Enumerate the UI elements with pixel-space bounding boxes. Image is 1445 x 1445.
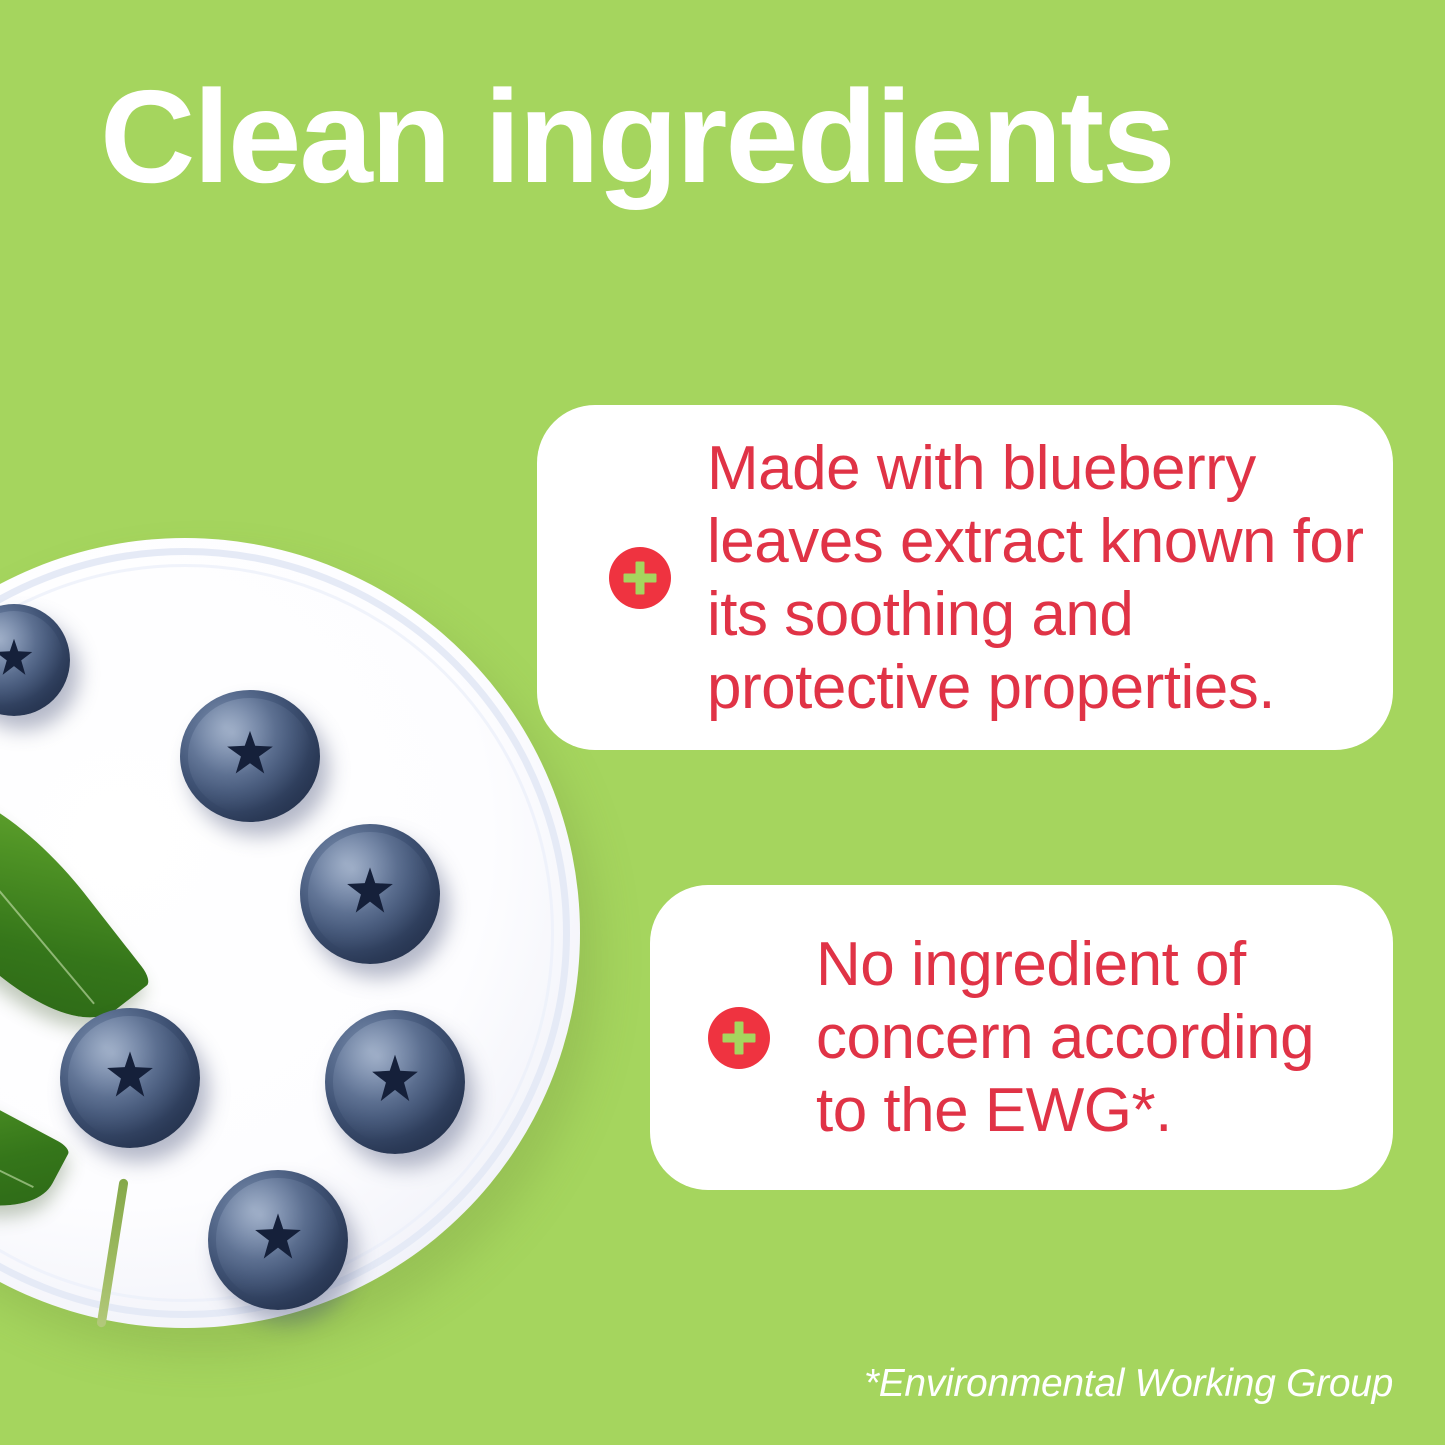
blueberry: [180, 690, 320, 822]
benefit-card-ewg: No ingredient of concern according to th…: [650, 885, 1393, 1190]
plus-icon: [609, 547, 671, 609]
blueberry: [325, 1010, 465, 1154]
blueberry: [60, 1008, 200, 1148]
plus-icon: [708, 1007, 770, 1069]
benefit-card-text: No ingredient of concern according to th…: [816, 928, 1369, 1147]
benefit-card-ingredient: Made with blueberry leaves extract known…: [537, 405, 1393, 750]
footnote: *Environmental Working Group: [864, 1362, 1393, 1406]
infographic-canvas: Clean ingredients: [0, 0, 1445, 1445]
blueberry: [208, 1170, 348, 1310]
blueberry-petri-dish-photo: [0, 538, 580, 1338]
page-title: Clean ingredients: [100, 68, 1300, 207]
blueberry: [300, 824, 440, 964]
benefit-card-text: Made with blueberry leaves extract known…: [707, 432, 1369, 724]
